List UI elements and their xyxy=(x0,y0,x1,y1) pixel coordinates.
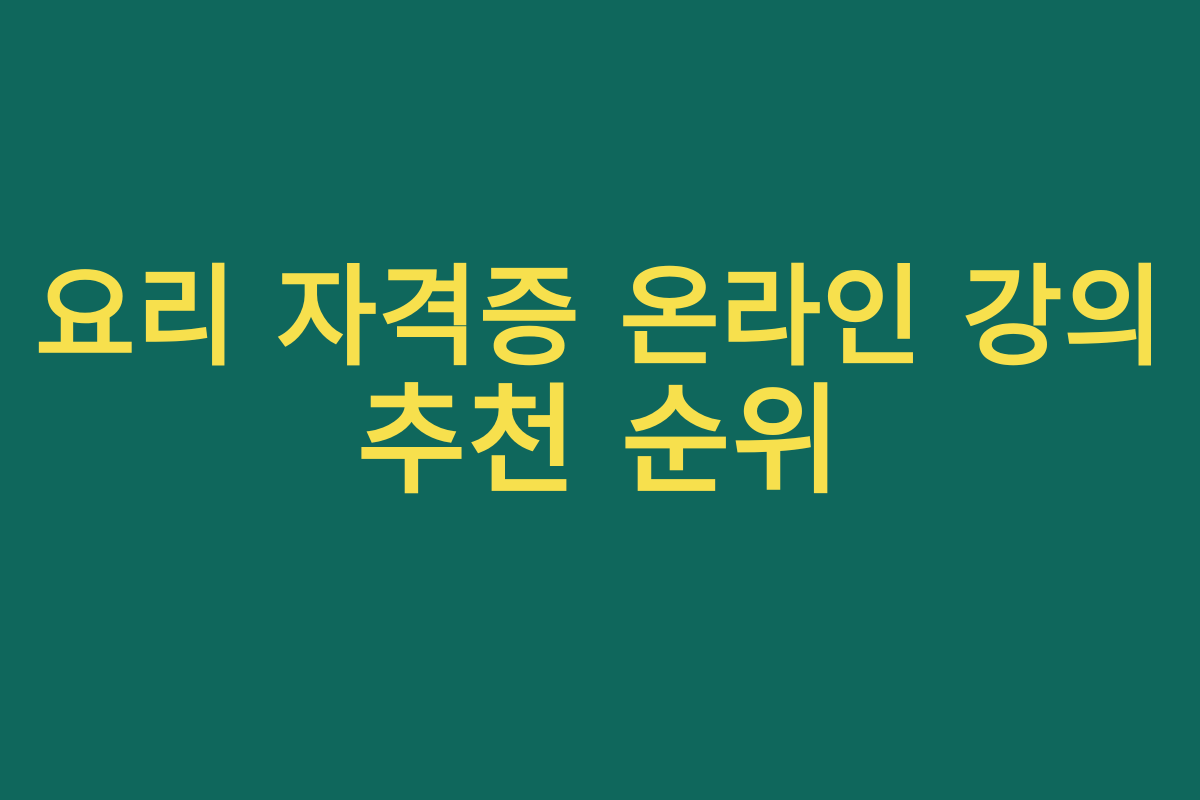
page-title: 요리 자격증 온라인 강의 추천 순위 xyxy=(35,259,1165,505)
banner-card: 요리 자격증 온라인 강의 추천 순위 xyxy=(0,0,1200,800)
title-line-2: 추천 순위 xyxy=(35,377,1165,505)
title-line-1: 요리 자격증 온라인 강의 xyxy=(35,259,1165,377)
